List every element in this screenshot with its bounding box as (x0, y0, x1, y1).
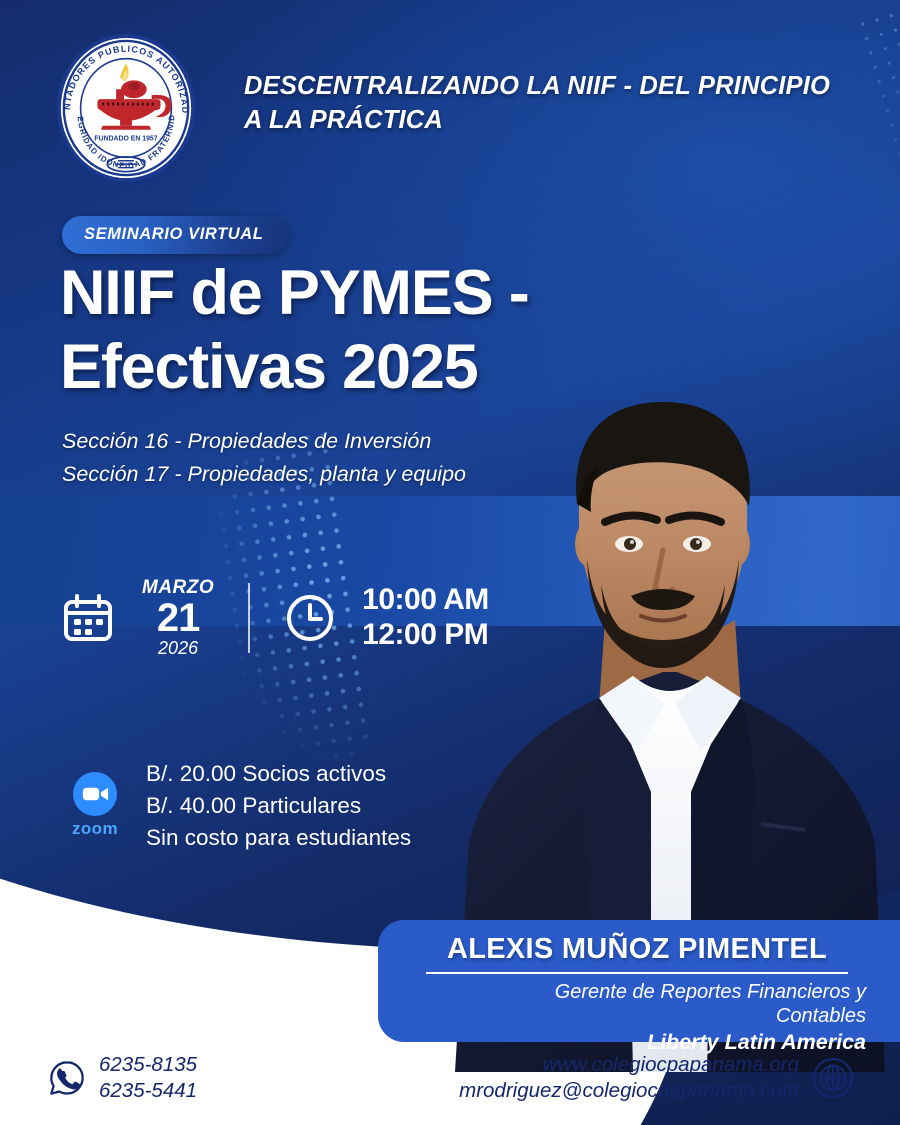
title-line-1: NIIF de PYMES - (60, 258, 529, 328)
calendar-icon (62, 592, 114, 644)
flyer-header: COLEGIO DE CONTADORES PUBLICOS AUTORIZAD… (44, 28, 860, 188)
speaker-name-banner: ALEXIS MUÑOZ PIMENTEL Gerente de Reporte… (378, 920, 900, 1042)
event-year: 2026 (142, 639, 214, 657)
speaker-role: Gerente de Reportes Financieros y Contab… (408, 981, 866, 1028)
speaker-role-line-1: Gerente de Reportes Financieros y (408, 981, 866, 1005)
zoom-video-camera-icon (73, 772, 117, 816)
section-line-2: Sección 17 - Propiedades, planta y equip… (62, 458, 582, 491)
tagline-line-1: DESCENTRALIZANDO LA NIIF - DEL PRINCIPIO (244, 72, 830, 100)
speaker-name: ALEXIS MUÑOZ PIMENTEL (408, 933, 866, 966)
event-date: MARZO 21 2026 (142, 578, 214, 657)
svg-text:FUNDADO EN 1957: FUNDADO EN 1957 (94, 136, 157, 143)
title-line-2: Efectivas 2025 (60, 336, 620, 399)
price-line-1: B/. 20.00 Socios activos (146, 758, 411, 790)
flyer-footer: 6235-8135 6235-5441 www.colegiocpapanama… (0, 1040, 900, 1125)
section-line-1: Sección 16 - Propiedades de Inversión (62, 425, 582, 458)
banner-divider (426, 972, 848, 974)
whatsapp-icon[interactable] (48, 1059, 86, 1097)
globe-icon[interactable] (812, 1057, 854, 1099)
time-start: 10:00 AM (362, 583, 489, 617)
price-line-3: Sin costo para estudiantes (146, 822, 411, 854)
seminar-sections: Sección 16 - Propiedades de Inversión Se… (62, 425, 582, 490)
pricing-list: B/. 20.00 Socios activos B/. 40.00 Parti… (146, 758, 411, 854)
email-address[interactable]: mrodriguez@colegiocpapanama.com (459, 1078, 799, 1104)
phone-2: 6235-5441 (99, 1078, 197, 1104)
zoom-wordmark: zoom (72, 819, 118, 838)
tagline-line-2: A LA PRÁCTICA (244, 106, 443, 134)
divider (248, 583, 250, 653)
cpa-seal-logo: COLEGIO DE CONTADORES PUBLICOS AUTORIZAD… (52, 32, 200, 184)
event-month: MARZO (142, 577, 214, 598)
phone-1: 6235-8135 (99, 1052, 197, 1078)
time-end: 12:00 PM (362, 618, 489, 652)
date-time-row: MARZO 21 2026 10:00 AM 12:00 PM (62, 578, 489, 657)
speaker-role-line-2: Contables (408, 1005, 866, 1029)
web-links: www.colegiocpapanama.org mrodriguez@cole… (459, 1052, 799, 1104)
pricing-row: zoom B/. 20.00 Socios activos B/. 40.00 … (62, 758, 411, 854)
header-tagline: DESCENTRALIZANDO LA NIIF - DEL PRINCIPIO… (244, 70, 844, 138)
page-title: NIIF de PYMES - Efectivas 2025 (60, 262, 620, 399)
phone-numbers: 6235-8135 6235-5441 (99, 1052, 197, 1104)
event-flyer: COLEGIO DE CONTADORES PUBLICOS AUTORIZAD… (0, 0, 900, 1125)
event-day: 21 (142, 598, 214, 638)
clock-icon (284, 592, 336, 644)
price-line-2: B/. 40.00 Particulares (146, 790, 411, 822)
phone-contact: 6235-8135 6235-5441 (48, 1052, 197, 1104)
zoom-logo: zoom (62, 772, 128, 839)
website-url[interactable]: www.colegiocpapanama.org (459, 1052, 799, 1078)
web-contact: www.colegiocpapanama.org mrodriguez@cole… (459, 1052, 854, 1104)
event-time: 10:00 AM 12:00 PM (362, 583, 489, 651)
seminar-type-badge: SEMINARIO VIRTUAL (62, 216, 290, 254)
